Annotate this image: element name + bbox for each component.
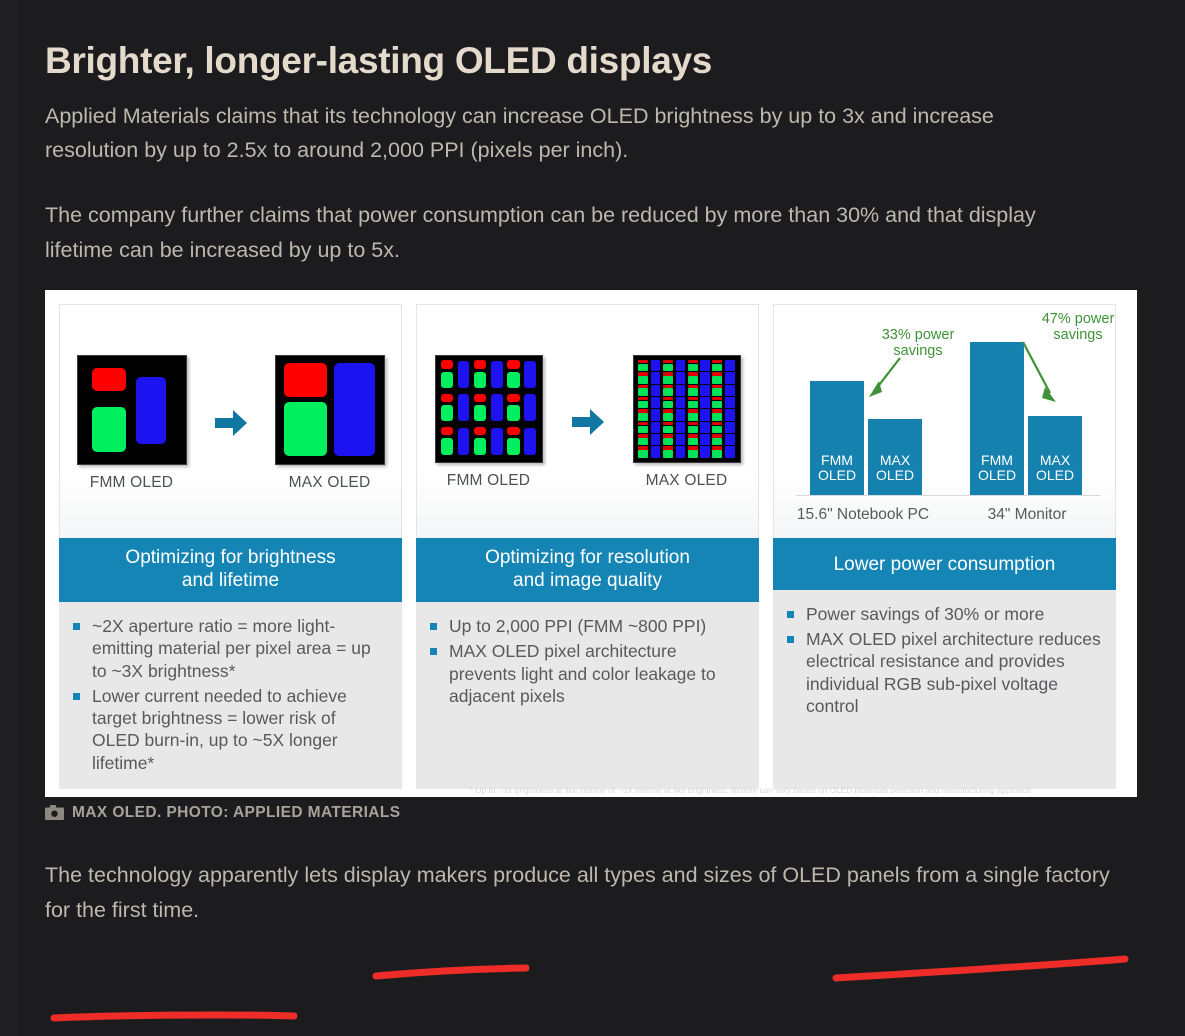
- grid-cell-rg: [440, 427, 455, 458]
- grid-cell-rg: [687, 446, 698, 457]
- max-oled-pixel-grid: [633, 355, 741, 463]
- grid-cell-b: [490, 393, 505, 424]
- diagram-group-max: MAX OLED: [626, 355, 748, 490]
- grid-cell-b: [699, 422, 710, 433]
- grid-cell-b: [523, 427, 538, 458]
- grid-cell-b: [675, 372, 686, 383]
- grid-cell-rg: [638, 446, 649, 457]
- grid-cell-rg: [638, 360, 649, 371]
- grid-cell-b: [675, 446, 686, 457]
- grid-cell-rg: [440, 393, 455, 424]
- article-content: Brighter, longer-lasting OLED displays A…: [45, 0, 1155, 958]
- grid-cell-b: [490, 427, 505, 458]
- article-paragraph-2: The company further claims that power co…: [45, 198, 1090, 268]
- green-subpixel: [284, 402, 327, 456]
- annotation-value: 47%: [1042, 311, 1071, 327]
- grid-cell-b: [699, 446, 710, 457]
- x-axis-tick-monitor: 34" Monitor: [960, 506, 1094, 524]
- list-item: Lower current needed to achieve target b…: [69, 685, 388, 774]
- panel-1-title-line-2: and lifetime: [182, 570, 279, 591]
- underline-oled-panels-single: [836, 959, 1125, 978]
- grid-cell-rg: [662, 360, 673, 371]
- article-figure: FMM OLED MAX OLED: [45, 290, 1155, 822]
- grid-cell-rg: [440, 360, 455, 391]
- grid-cell-rg: [473, 393, 488, 424]
- infographic-footnote: * Up to ~3X brightness at like lifetime …: [470, 786, 1127, 795]
- grid-cell-rg: [662, 409, 673, 420]
- fmm-oled-pixel-grid: [435, 355, 543, 463]
- grid-cell-rg: [712, 372, 723, 383]
- grid-cell-rg: [712, 397, 723, 408]
- grid-cell-b: [724, 372, 735, 383]
- bar-label-line-1: FMM: [810, 453, 864, 468]
- grid-cell-b: [523, 360, 538, 391]
- grid-cell-rg: [687, 422, 698, 433]
- panel-1-bullet-list: ~2X aperture ratio = more light-emitting…: [69, 615, 388, 774]
- grid-cell-rg: [506, 393, 521, 424]
- grid-cell-b: [724, 385, 735, 396]
- panel-3-body: Power savings of 30% or more MAX OLED pi…: [773, 590, 1116, 789]
- grid-cell-rg: [712, 422, 723, 433]
- grid-cell-b: [724, 409, 735, 420]
- grid-cell-b: [650, 360, 661, 371]
- bar-fmm-monitor: FMM OLED: [970, 342, 1024, 496]
- grid-cell-rg: [506, 360, 521, 391]
- underline-factory-first-time: [54, 1015, 294, 1018]
- fmm-grid: [440, 360, 538, 458]
- grid-cell-rg: [638, 385, 649, 396]
- closing-paragraph-text: The technology apparently lets display m…: [45, 863, 1110, 922]
- grid-cell-rg: [473, 427, 488, 458]
- grid-cell-b: [523, 393, 538, 424]
- grid-cell-b: [724, 422, 735, 433]
- grid-cell-rg: [662, 446, 673, 457]
- chart-plot-area: FMM OLED MAX OLED: [796, 329, 1101, 496]
- pixel-comparison-diagram-1: FMM OLED MAX OLED: [60, 355, 401, 492]
- blue-subpixel: [136, 377, 166, 444]
- grid-cell-b: [456, 427, 471, 458]
- diagram-label-max: MAX OLED: [269, 474, 391, 492]
- grid-cell-rg: [638, 422, 649, 433]
- panel-2-body: Up to 2,000 PPI (FMM ~800 PPI) MAX OLED …: [416, 602, 759, 789]
- grid-cell-b: [675, 409, 686, 420]
- grid-cell-b: [675, 422, 686, 433]
- grid-cell-b: [456, 393, 471, 424]
- panel-2-visual: FMM OLED MAX OLED: [416, 304, 759, 538]
- page-title: Brighter, longer-lasting OLED displays: [45, 40, 1155, 83]
- figure-caption-text: MAX OLED. PHOTO: APPLIED MATERIALS: [72, 804, 401, 822]
- grid-cell-rg: [687, 409, 698, 420]
- grid-cell-rg: [687, 397, 698, 408]
- grid-cell-b: [699, 409, 710, 420]
- grid-cell-b: [650, 409, 661, 420]
- red-subpixel: [284, 363, 327, 396]
- grid-cell-b: [456, 360, 471, 391]
- grid-cell-rg: [712, 434, 723, 445]
- red-subpixel: [92, 368, 127, 392]
- bar-max-monitor: MAX OLED: [1028, 416, 1082, 496]
- infographic-panel-power: FMM OLED MAX OLED: [773, 304, 1116, 789]
- underline-display-makers: [376, 968, 526, 976]
- panel-2-title-line-1: Optimizing for resolution: [485, 547, 690, 568]
- diagram-label-max: MAX OLED: [626, 472, 748, 490]
- x-axis-tick-notebook: 15.6" Notebook PC: [788, 506, 938, 524]
- diagram-group-max: MAX OLED: [269, 355, 391, 492]
- grid-cell-rg: [712, 446, 723, 457]
- camera-icon: [45, 805, 64, 820]
- bar-fmm-notebook: FMM OLED: [810, 381, 864, 496]
- list-item: Up to 2,000 PPI (FMM ~800 PPI): [426, 615, 745, 637]
- list-item: ~2X aperture ratio = more light-emitting…: [69, 615, 388, 682]
- bar-label-line-1: FMM: [970, 453, 1024, 468]
- grid-cell-b: [699, 397, 710, 408]
- list-item: MAX OLED pixel architecture reduces elec…: [783, 628, 1102, 717]
- max-grid: [638, 360, 736, 458]
- grid-cell-rg: [638, 372, 649, 383]
- infographic: FMM OLED MAX OLED: [45, 290, 1137, 797]
- grid-cell-b: [724, 446, 735, 457]
- arrow-right-icon: [213, 406, 249, 440]
- grid-cell-rg: [687, 385, 698, 396]
- green-subpixel: [92, 407, 127, 452]
- grid-cell-rg: [662, 385, 673, 396]
- infographic-panel-resolution: FMM OLED MAX OLED: [416, 304, 759, 789]
- grid-cell-rg: [687, 372, 698, 383]
- article-paragraph-1: Applied Materials claims that its techno…: [45, 99, 1090, 169]
- list-item: MAX OLED pixel architecture prevents lig…: [426, 640, 745, 707]
- grid-cell-b: [490, 360, 505, 391]
- grid-cell-b: [724, 434, 735, 445]
- panel-1-title-line-1: Optimizing for brightness: [125, 547, 335, 568]
- grid-cell-b: [699, 385, 710, 396]
- grid-cell-rg: [506, 427, 521, 458]
- bar-label-line-2: OLED: [810, 468, 864, 483]
- diagram-group-fmm: FMM OLED: [428, 355, 550, 490]
- grid-cell-b: [675, 434, 686, 445]
- grid-cell-rg: [687, 360, 698, 371]
- annotation-arrow-2-icon: [1018, 339, 1064, 407]
- max-oled-pixel-illustration: [275, 355, 385, 465]
- bar-label-line-1: MAX: [868, 453, 922, 468]
- grid-cell-rg: [712, 360, 723, 371]
- power-consumption-bar-chart: FMM OLED MAX OLED: [774, 305, 1115, 538]
- panel-3-visual: FMM OLED MAX OLED: [773, 304, 1116, 538]
- grid-cell-b: [699, 360, 710, 371]
- grid-cell-rg: [638, 397, 649, 408]
- grid-cell-b: [650, 372, 661, 383]
- grid-cell-rg: [638, 409, 649, 420]
- diagram-label-fmm: FMM OLED: [428, 472, 550, 490]
- figure-caption: MAX OLED. PHOTO: APPLIED MATERIALS: [45, 804, 1155, 822]
- grid-cell-rg: [662, 434, 673, 445]
- annotation-line-2: power: [915, 327, 955, 343]
- grid-cell-b: [650, 434, 661, 445]
- diagram-label-fmm: FMM OLED: [71, 474, 193, 492]
- panel-3-bullet-list: Power savings of 30% or more MAX OLED pi…: [783, 603, 1102, 717]
- grid-cell-b: [650, 446, 661, 457]
- panel-2-title-line-2: and image quality: [513, 570, 662, 591]
- grid-cell-b: [675, 397, 686, 408]
- article-closing-paragraph: The technology apparently lets display m…: [45, 858, 1130, 928]
- panel-1-title: Optimizing for brightness and lifetime: [59, 538, 402, 602]
- grid-cell-b: [650, 397, 661, 408]
- list-item: Power savings of 30% or more: [783, 603, 1102, 625]
- annotation-value: 33%: [882, 327, 911, 343]
- grid-cell-rg: [662, 422, 673, 433]
- grid-cell-rg: [662, 372, 673, 383]
- bar-label-line-2: OLED: [1028, 468, 1082, 483]
- panel-2-title: Optimizing for resolution and image qual…: [416, 538, 759, 602]
- annotation-arrow-1-icon: [862, 355, 906, 403]
- bar-label-line-2: OLED: [868, 468, 922, 483]
- page-left-gutter: [0, 0, 18, 1036]
- grid-cell-rg: [712, 409, 723, 420]
- fmm-oled-pixel-illustration: [77, 355, 187, 465]
- grid-cell-b: [675, 385, 686, 396]
- grid-cell-b: [724, 397, 735, 408]
- blue-subpixel: [334, 363, 375, 456]
- panel-1-body: ~2X aperture ratio = more light-emitting…: [59, 602, 402, 789]
- bar-label-line-2: OLED: [970, 468, 1024, 483]
- bar-label-line-1: MAX: [1028, 453, 1082, 468]
- infographic-panel-brightness: FMM OLED MAX OLED: [59, 304, 402, 789]
- bar-max-notebook: MAX OLED: [868, 419, 922, 496]
- panel-2-bullet-list: Up to 2,000 PPI (FMM ~800 PPI) MAX OLED …: [426, 615, 745, 707]
- grid-cell-b: [699, 372, 710, 383]
- grid-cell-rg: [687, 434, 698, 445]
- grid-cell-b: [675, 360, 686, 371]
- grid-cell-b: [724, 360, 735, 371]
- grid-cell-b: [699, 434, 710, 445]
- pixel-comparison-diagram-2: FMM OLED MAX OLED: [417, 355, 758, 490]
- diagram-group-fmm: FMM OLED: [71, 355, 193, 492]
- grid-cell-rg: [473, 360, 488, 391]
- arrow-right-icon: [570, 405, 606, 439]
- grid-cell-rg: [662, 397, 673, 408]
- chart-axis-line: [796, 495, 1101, 496]
- panel-1-visual: FMM OLED MAX OLED: [59, 304, 402, 538]
- grid-cell-b: [650, 385, 661, 396]
- annotation-line-2: power: [1075, 311, 1115, 327]
- grid-cell-rg: [638, 434, 649, 445]
- grid-cell-rg: [712, 385, 723, 396]
- grid-cell-b: [650, 422, 661, 433]
- panel-3-title: Lower power consumption: [773, 538, 1116, 590]
